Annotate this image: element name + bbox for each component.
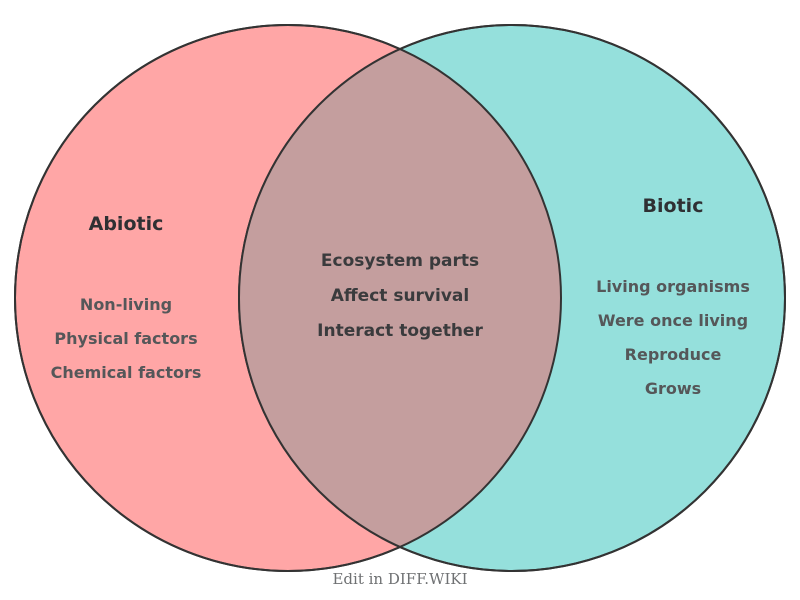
right-set-item: Grows xyxy=(645,379,701,398)
right-set-title: Biotic xyxy=(643,195,704,217)
intersection-item: Interact together xyxy=(317,321,483,341)
venn-diagram-canvas: Abiotic Non-living Physical factors Chem… xyxy=(0,0,800,600)
left-set-item: Chemical factors xyxy=(51,363,202,382)
intersection-item: Ecosystem parts xyxy=(321,251,479,271)
left-set-item: Physical factors xyxy=(54,329,197,348)
left-set-title: Abiotic xyxy=(89,213,164,235)
venn-diagram: Abiotic Non-living Physical factors Chem… xyxy=(0,0,800,600)
intersection-item-list: Ecosystem parts Affect survival Interact… xyxy=(317,251,483,341)
right-set-item: Were once living xyxy=(598,311,748,330)
right-set-item: Reproduce xyxy=(625,345,722,364)
right-set-item: Living organisms xyxy=(596,277,750,296)
intersection-item: Affect survival xyxy=(331,286,469,306)
left-set-item: Non-living xyxy=(80,295,172,314)
edit-link[interactable]: Edit in DIFF.WIKI xyxy=(332,570,467,588)
